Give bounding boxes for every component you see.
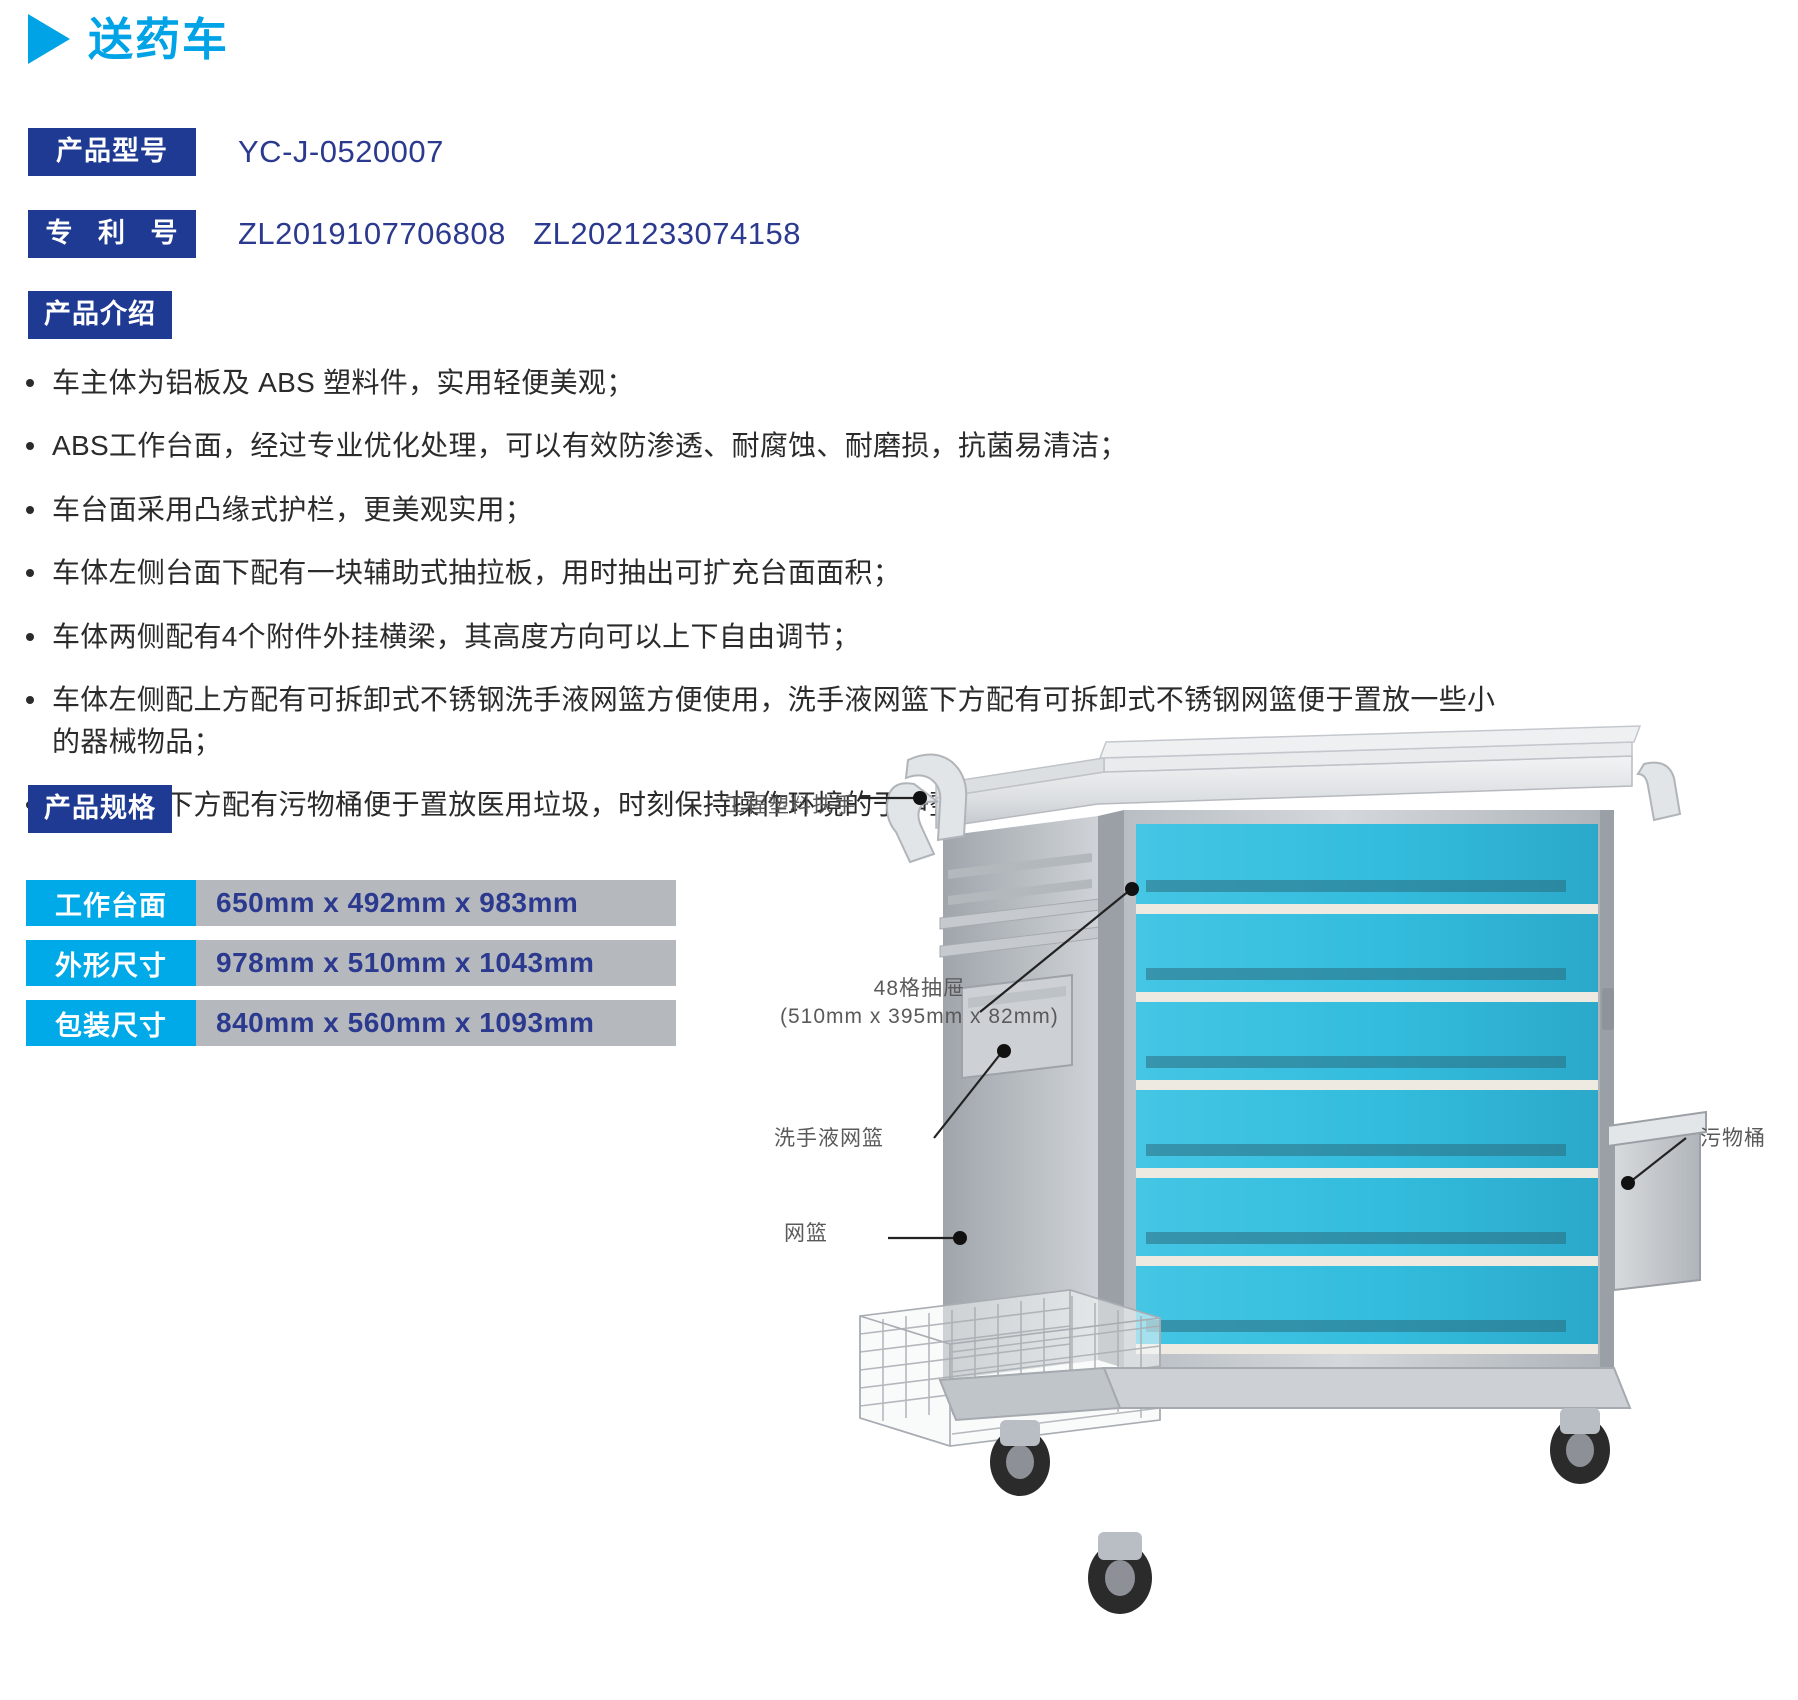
spec-value: 840mm x 560mm x 1093mm — [196, 1000, 676, 1046]
page-title-text: 送药车 — [88, 17, 229, 62]
bullet-dot-icon — [26, 633, 34, 641]
cart-drawers — [1136, 824, 1598, 1354]
dot-waste — [1621, 1176, 1635, 1190]
dot-drawer — [1125, 882, 1139, 896]
medicine-cart-illustration — [700, 720, 1798, 1700]
callout-handle-label: 工程塑料扶手 — [724, 794, 856, 817]
patent-value: ZL2019107706808 ZL2021233074158 — [238, 216, 801, 252]
waste-bin — [1608, 1112, 1706, 1290]
spec-key: 工作台面 — [26, 880, 196, 926]
spec-table: 工作台面 650mm x 492mm x 983mm 外形尺寸 978mm x … — [26, 880, 676, 1060]
bullet-dot-icon — [26, 379, 34, 387]
list-item: 车主体为铝板及 ABS 塑料件，实用轻便美观； — [26, 362, 1506, 403]
spec-heading-chip: 产品规格 — [28, 785, 172, 833]
list-item: 车体两侧配有4个附件外挂横梁，其高度方向可以上下自由调节； — [26, 616, 1506, 657]
side-latch — [1602, 988, 1614, 1030]
product-catalog-page: 送药车 产品型号 YC-J-0520007 专 利 号 ZL2019107706… — [0, 0, 1798, 1700]
callout-sanitizer-label: 洗手液网篮 — [774, 1127, 884, 1150]
bullet-dot-icon — [26, 569, 34, 577]
bullet-dot-icon — [26, 506, 34, 514]
dot-handle — [913, 791, 927, 805]
model-row: 产品型号 YC-J-0520007 — [28, 128, 444, 176]
bullet-dot-icon — [26, 442, 34, 450]
callout-drawer-label: 48格抽屉 — [874, 977, 965, 1000]
model-value: YC-J-0520007 — [238, 134, 444, 170]
product-image: 工程塑料扶手 48格抽屉 (510mm x 395mm x 82mm) 洗手液网… — [700, 720, 1798, 1700]
table-row: 外形尺寸 978mm x 510mm x 1043mm — [26, 940, 676, 986]
spec-value: 650mm x 492mm x 983mm — [196, 880, 676, 926]
cart-base — [940, 1368, 1630, 1420]
spec-key: 外形尺寸 — [26, 940, 196, 986]
callout-handle: 工程塑料扶手 — [724, 792, 856, 820]
callout-drawer: 48格抽屉 (510mm x 395mm x 82mm) — [780, 975, 1059, 1032]
callout-drawer-dimensions: (510mm x 395mm x 82mm) — [780, 1003, 1059, 1031]
list-item: ABS工作台面，经过专业优化处理，可以有效防渗透、耐腐蚀、耐磨损，抗菌易清洁； — [26, 425, 1506, 466]
callout-sanitizer-basket: 洗手液网篮 — [774, 1125, 884, 1153]
table-row: 包装尺寸 840mm x 560mm x 1093mm — [26, 1000, 676, 1046]
list-item-text: 车主体为铝板及 ABS 塑料件，实用轻便美观； — [52, 362, 1506, 403]
cart-handle-right — [1638, 763, 1680, 820]
list-item: 车体左侧台面下配有一块辅助式抽拉板，用时抽出可扩充台面面积； — [26, 552, 1506, 593]
callout-wire-basket: 网篮 — [784, 1220, 828, 1248]
page-title: 送药车 — [28, 14, 229, 64]
bullet-dot-icon — [26, 696, 34, 704]
table-row: 工作台面 650mm x 492mm x 983mm — [26, 880, 676, 926]
dot-basket — [953, 1231, 967, 1245]
dot-sanitizer — [997, 1044, 1011, 1058]
list-item-text: ABS工作台面，经过专业优化处理，可以有效防渗透、耐腐蚀、耐磨损，抗菌易清洁； — [52, 425, 1506, 466]
list-item-text: 车体左侧台面下配有一块辅助式抽拉板，用时抽出可扩充台面面积； — [52, 552, 1506, 593]
callout-wire-basket-label: 网篮 — [784, 1222, 828, 1245]
patent-label-chip: 专 利 号 — [28, 210, 196, 258]
intro-heading-chip: 产品介绍 — [28, 291, 172, 339]
list-item: 车台面采用凸缘式护栏，更美观实用； — [26, 489, 1506, 530]
model-label-chip: 产品型号 — [28, 128, 196, 176]
list-item-text: 车台面采用凸缘式护栏，更美观实用； — [52, 489, 1506, 530]
list-item-text: 车体两侧配有4个附件外挂横梁，其高度方向可以上下自由调节； — [52, 616, 1506, 657]
callout-waste-bin-label: 污物桶 — [1700, 1127, 1766, 1150]
spec-key: 包装尺寸 — [26, 1000, 196, 1046]
spec-value: 978mm x 510mm x 1043mm — [196, 940, 676, 986]
play-triangle-icon — [28, 14, 70, 64]
cart-casters — [990, 1408, 1610, 1614]
patent-row: 专 利 号 ZL2019107706808 ZL2021233074158 — [28, 210, 801, 258]
callout-waste-bin: 污物桶 — [1700, 1125, 1766, 1153]
